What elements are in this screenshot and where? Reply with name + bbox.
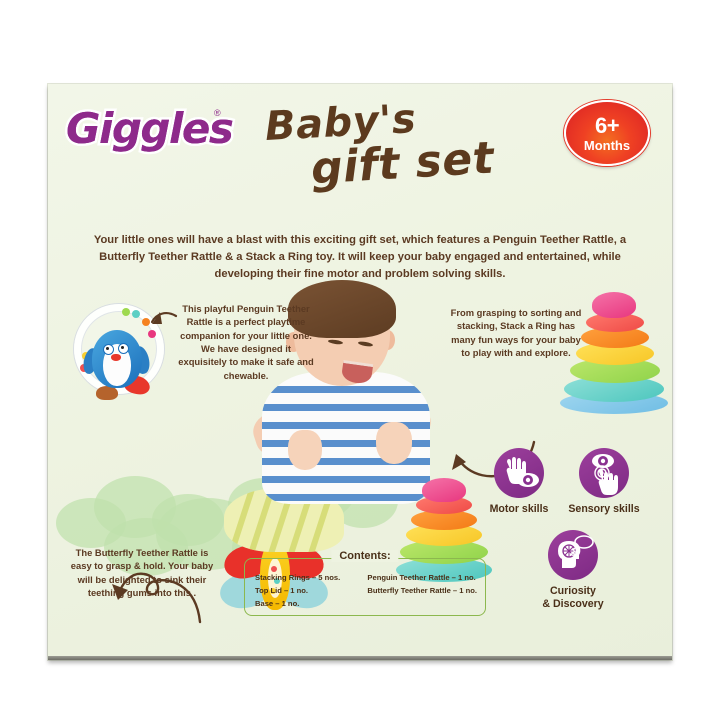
eye-touch-icon: [579, 448, 629, 498]
penguin-foot-left: [96, 386, 118, 400]
skill-label-sensory: Sensory skills: [568, 503, 639, 515]
screenshot-root: Giggles Giggles ® Baby's gift set 6+ Mon…: [0, 0, 720, 720]
skill-label-motor: Motor skills: [490, 503, 549, 515]
brand-logo: Giggles Giggles ®: [66, 102, 226, 162]
contents-left-column: Stacking Rings – 5 nos. Top Lid – 1 no. …: [255, 571, 357, 610]
butterfly-callout-text: The Butterfly Teether Rattle is easy to …: [66, 546, 218, 660]
intro-paragraph: Your little ones will have a blast with …: [76, 232, 644, 283]
penguin-bead: [132, 310, 140, 318]
penguin-eye-right: [118, 343, 129, 354]
contents-item: Butterfly Teether Rattle – 1 no.: [367, 584, 477, 597]
contents-item: Stacking Rings – 5 nos.: [255, 571, 357, 584]
page-title: Baby's gift set: [253, 100, 543, 192]
baby-hand-left: [288, 430, 322, 470]
contents-box: Contents: Stacking Rings – 5 nos. Top Li…: [244, 558, 486, 616]
page-title-line2: gift set: [310, 132, 496, 194]
rings-callout-text: From grasping to sorting and stacking, S…: [448, 306, 584, 430]
contents-item: Top Lid – 1 no.: [255, 584, 357, 597]
age-badge-unit: Months: [584, 139, 630, 152]
skill-badge-sensory: Sensory skills: [556, 448, 652, 516]
penguin-bead: [142, 318, 150, 326]
penguin-beak: [111, 354, 121, 361]
skill-badge-curiosity: Curiosity & Discovery: [518, 530, 628, 611]
product-package-card: Giggles Giggles ® Baby's gift set 6+ Mon…: [48, 84, 672, 660]
head-thought-bubble-icon: [548, 530, 598, 580]
age-badge: 6+ Months: [564, 100, 650, 166]
registered-mark: ®: [214, 108, 221, 118]
arrowhead-rings: [452, 454, 466, 470]
contents-item: Penguin Teether Rattle – 1 no.: [367, 571, 477, 584]
skill-label-curiosity-line1: Curiosity: [550, 585, 596, 597]
penguin-teether-rattle-image: [70, 300, 168, 412]
contents-right-column: Penguin Teether Rattle – 1 no. Butterfly…: [367, 571, 477, 610]
hand-eye-icon: [494, 448, 544, 498]
baby-hand-right: [376, 422, 412, 464]
ring-top-lid: [592, 292, 636, 318]
brand-logo-text: Giggles: [66, 104, 232, 153]
skill-label-curiosity-line2: & Discovery: [542, 598, 603, 610]
contents-item: Base – 1 no.: [255, 597, 357, 610]
penguin-callout-text: This playful Penguin Teether Rattle is a…: [178, 302, 314, 414]
penguin-bead: [122, 308, 130, 316]
penguin-bead: [148, 330, 156, 338]
skill-badge-motor: Motor skills: [476, 448, 562, 516]
contents-heading: Contents:: [331, 550, 398, 562]
age-badge-value: 6+: [595, 115, 619, 137]
